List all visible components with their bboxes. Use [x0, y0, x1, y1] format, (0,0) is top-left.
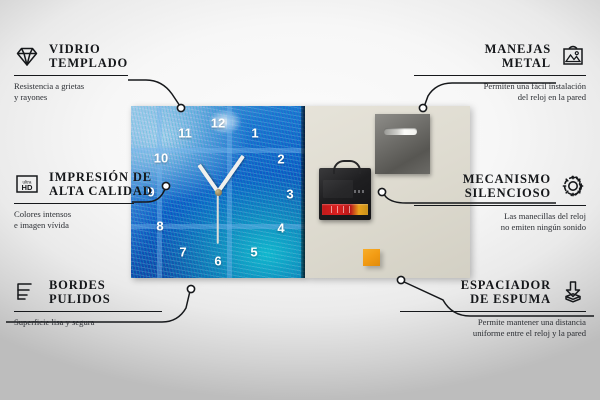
- diamond-icon: [14, 43, 40, 69]
- callout-title-line2: METAL: [485, 56, 551, 70]
- infographic-canvas: 12 1 2 3 4 5 6 7 8 9 10 11: [0, 0, 600, 400]
- battery-label: [322, 204, 368, 215]
- callout-bordes-pulidos[interactable]: BORDES PULIDOS Superficie lisa y segura: [14, 278, 136, 328]
- clock-number-8: 8: [156, 220, 163, 233]
- callout-title-line2: SILENCIOSO: [463, 186, 551, 200]
- print-grid-line: [157, 106, 162, 278]
- callout-desc-line2: e imagen vívida: [14, 220, 136, 231]
- callout-rule: [414, 75, 586, 76]
- foam-spacer-piece: [363, 249, 380, 266]
- clock-number-12: 12: [211, 117, 225, 130]
- clock-number-1: 1: [251, 127, 258, 140]
- connector-vidrio-templado: [128, 80, 180, 106]
- svg-text:HD: HD: [22, 183, 33, 192]
- clock-mechanism: [319, 168, 371, 220]
- callout-title-line2: PULIDOS: [49, 292, 111, 306]
- callout-title-line2: TEMPLADO: [49, 56, 128, 70]
- callout-title-line2: ALTA CALIDAD: [49, 184, 153, 198]
- clock-number-7: 7: [179, 246, 186, 259]
- callout-title-line1: MANEJAS: [485, 42, 551, 56]
- metal-hanger-plate: [375, 114, 430, 174]
- hanger-slot: [384, 128, 417, 135]
- callout-espaciador-espuma[interactable]: ESPACIADOR DE ESPUMA Permite mantener un…: [398, 278, 586, 339]
- callout-title-line1: BORDES: [49, 278, 111, 292]
- callout-rule: [14, 311, 162, 312]
- callout-rule: [400, 311, 586, 312]
- callout-desc-line1: Resistencia a grietas: [14, 81, 130, 92]
- polished-edges-icon: [14, 279, 40, 305]
- clock-number-3: 3: [286, 188, 293, 201]
- ultra-hd-icon: ultra HD: [14, 171, 40, 197]
- picture-hanger-icon: [560, 43, 586, 69]
- print-grid-line: [227, 106, 232, 278]
- callout-vidrio-templado[interactable]: VIDRIO TEMPLADO Resistencia a grietas y …: [14, 42, 130, 103]
- mechanism-contacts: [354, 190, 366, 193]
- callout-rule: [14, 203, 134, 204]
- callout-desc-line2: del reloj en la pared: [412, 92, 586, 103]
- callout-desc-line2: uniforme entre el reloj y la pared: [398, 328, 586, 339]
- callout-title-line1: IMPRESIÓN DE: [49, 170, 153, 184]
- callout-impresion-alta-calidad[interactable]: ultra HD IMPRESIÓN DE ALTA CALIDAD Color…: [14, 170, 136, 231]
- clock-front-panel: 12 1 2 3 4 5 6 7 8 9 10 11: [131, 106, 305, 278]
- callout-desc-line1: Colores intensos: [14, 209, 136, 220]
- gear-icon: [560, 173, 586, 199]
- connector-dot-bordes-pulidos: [187, 285, 194, 292]
- callout-desc-line1: Las manecillas del reloj: [412, 211, 586, 222]
- callout-manejas-metal[interactable]: MANEJAS METAL Permiten una fácil instala…: [412, 42, 586, 103]
- clock-center-cap: [215, 189, 222, 196]
- clock-number-4: 4: [277, 222, 284, 235]
- callout-rule: [14, 75, 128, 76]
- mechanism-face-plate: [323, 180, 353, 198]
- callout-title-line1: MECANISMO: [463, 172, 551, 186]
- callout-desc-line1: Superficie lisa y segura: [14, 317, 136, 328]
- clock-second-hand: [217, 192, 219, 244]
- clock-number-6: 6: [214, 255, 221, 268]
- foam-spacer-icon: [560, 279, 586, 305]
- callout-desc-line2: y rayones: [14, 92, 130, 103]
- callout-mecanismo-silencioso[interactable]: MECANISMO SILENCIOSO Las manecillas del …: [412, 172, 586, 233]
- callout-desc-line1: Permite mantener una distancia: [398, 317, 586, 328]
- callout-title-line1: ESPACIADOR: [461, 278, 551, 292]
- callout-desc-line2: no emiten ningún sonido: [412, 222, 586, 233]
- mechanism-hanging-loop: [333, 160, 361, 174]
- callout-title-line1: VIDRIO: [49, 42, 128, 56]
- clock-number-5: 5: [250, 246, 257, 259]
- callout-rule: [414, 205, 586, 206]
- clock-number-10: 10: [154, 152, 168, 165]
- clock-number-11: 11: [178, 127, 192, 140]
- callout-title-line2: DE ESPUMA: [461, 292, 551, 306]
- callout-desc-line1: Permiten una fácil instalación: [412, 81, 586, 92]
- clock-number-2: 2: [277, 153, 284, 166]
